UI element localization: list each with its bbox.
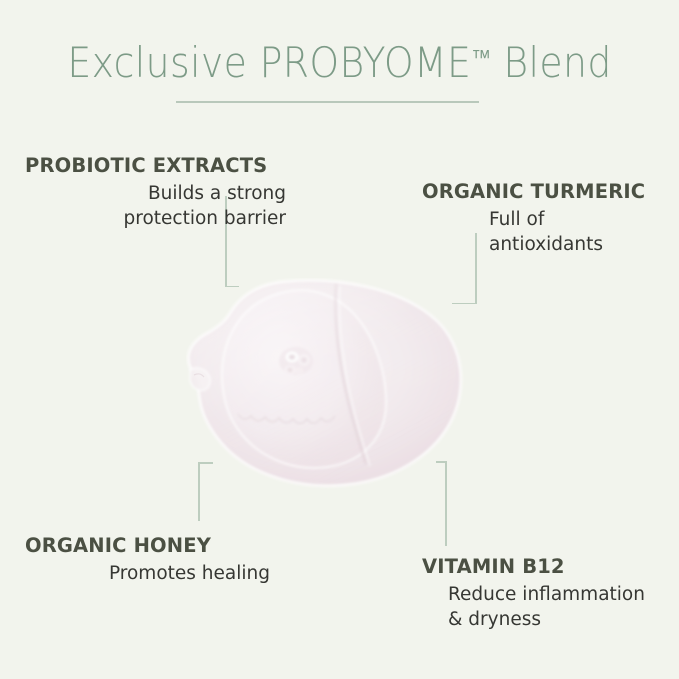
callout-description-organic-honey: Promotes healing [25,562,300,586]
title-divider [176,101,479,103]
callout-description-vitamin-b12: Reduce inflammation & dryness [422,583,674,632]
connector-line-b12-vertical [445,461,447,546]
callout-heading-vitamin-b12: VITAMIN B12 [422,556,674,578]
callout-description-organic-turmeric: Full of antioxidants [422,208,672,257]
callout-vitamin-b12: VITAMIN B12 Reduce inflammation & drynes… [422,556,674,632]
infographic-canvas: Exclusive PROBYOME™ Blend [0,0,679,679]
page-title: Exclusive PROBYOME™ Blend [34,38,645,87]
connector-line-b12-horizontal [436,461,446,463]
callout-description-probiotic-extracts: Builds a strong protection barrier [25,182,300,231]
callout-heading-organic-turmeric: ORGANIC TURMERIC [422,181,672,203]
callout-heading-probiotic-extracts: PROBIOTIC EXTRACTS [25,155,300,177]
page-title-prefix: Exclusive PROBYOME [67,38,471,87]
callout-probiotic-extracts: PROBIOTIC EXTRACTS Builds a strong prote… [25,155,300,231]
page-title-suffix: Blend [491,38,612,87]
connector-line-honey-horizontal [198,462,213,464]
connector-line-turmeric-horizontal [452,303,476,305]
callout-heading-organic-honey: ORGANIC HONEY [25,535,300,557]
connector-line-probiotic-horizontal [225,286,239,288]
callout-organic-honey: ORGANIC HONEY Promotes healing [25,535,300,587]
trademark-symbol: ™ [471,46,491,71]
connector-line-honey-vertical [198,462,200,521]
product-image-nursing-pad [186,278,468,490]
callout-organic-turmeric: ORGANIC TURMERIC Full of antioxidants [422,181,672,257]
